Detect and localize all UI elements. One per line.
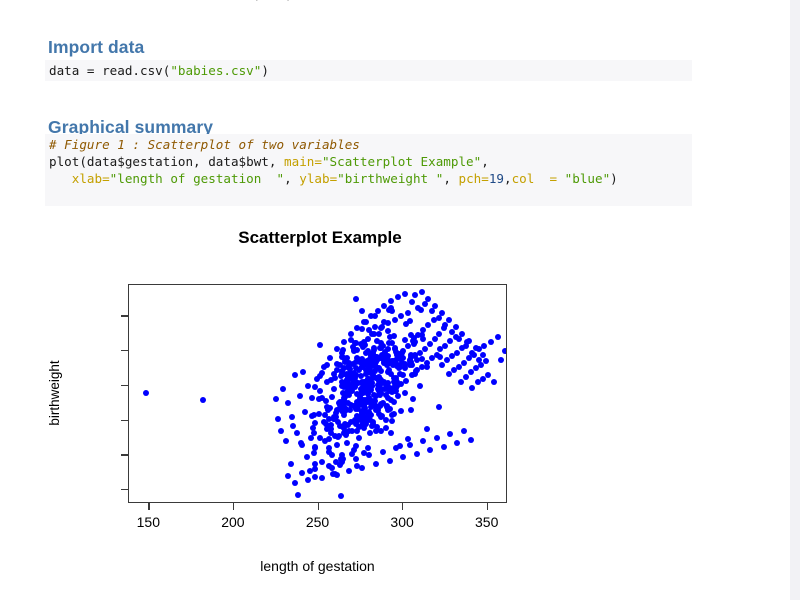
chart-data-point	[347, 407, 353, 413]
chart-x-tick-label: 250	[306, 514, 329, 530]
chart-data-point	[324, 362, 330, 368]
code-token-arg: col =	[512, 171, 565, 186]
code-token-plain: ,	[443, 171, 458, 186]
code-token-str: "Scatterplot Example"	[322, 154, 481, 169]
chart-data-point	[461, 360, 467, 366]
chart-data-point	[335, 434, 341, 440]
chart-data-point	[429, 308, 435, 314]
clipped-top-text: p p	[0, 0, 790, 10]
chart-data-point	[367, 430, 373, 436]
chart-data-point	[376, 331, 382, 337]
r-scatterplot-figure: Scatterplot Example birthweight length o…	[0, 218, 660, 588]
chart-data-point	[391, 399, 397, 405]
chart-data-point	[341, 395, 347, 401]
chart-x-tick-label: 150	[137, 514, 160, 530]
chart-data-point	[366, 452, 372, 458]
chart-data-point	[353, 456, 359, 462]
chart-data-point	[407, 318, 413, 324]
chart-data-point	[439, 310, 445, 316]
chart-data-point	[338, 493, 344, 499]
chart-data-point	[283, 438, 289, 444]
chart-plot-area	[128, 284, 507, 503]
code-token-plain: ,	[284, 171, 299, 186]
chart-data-point	[329, 394, 335, 400]
chart-data-point	[348, 337, 354, 343]
chart-data-point	[380, 449, 386, 455]
chart-data-point	[463, 343, 469, 349]
chart-data-point	[354, 428, 360, 434]
chart-data-point	[319, 370, 325, 376]
chart-data-point	[354, 347, 360, 353]
chart-data-point	[461, 428, 467, 434]
chart-data-point	[392, 346, 398, 352]
chart-data-point	[459, 331, 465, 337]
document-page: p p Import data data = read.csv("babies.…	[0, 0, 790, 600]
chart-data-point	[392, 317, 398, 323]
chart-data-point	[379, 324, 385, 330]
chart-data-point	[485, 372, 491, 378]
code-token-plain: plot(data$gestation, data$bwt,	[49, 154, 284, 169]
chart-data-point	[502, 348, 507, 354]
chart-data-point	[292, 372, 298, 378]
chart-data-point	[436, 315, 442, 321]
chart-data-point	[312, 466, 318, 472]
code-line: data = read.csv("babies.csv")	[49, 62, 686, 79]
chart-data-point	[327, 405, 333, 411]
chart-data-point	[309, 413, 315, 419]
chart-data-point	[311, 430, 317, 436]
chart-data-point	[361, 339, 367, 345]
chart-data-point	[432, 303, 438, 309]
chart-data-point	[454, 440, 460, 446]
chart-data-point	[391, 333, 397, 339]
code-token-str: "birthweight "	[337, 171, 443, 186]
chart-data-point	[366, 388, 372, 394]
chart-data-point	[436, 331, 442, 337]
chart-data-point	[402, 390, 408, 396]
code-token-cmt: # Figure 1 : Scatterplot of two variable…	[49, 137, 360, 152]
chart-x-tick	[318, 503, 319, 510]
chart-data-point	[359, 308, 365, 314]
chart-data-point	[305, 477, 311, 483]
chart-data-point	[361, 381, 367, 387]
chart-data-point	[400, 454, 406, 460]
chart-data-point	[425, 322, 431, 328]
chart-data-point	[333, 414, 339, 420]
chart-data-point	[427, 341, 433, 347]
chart-data-point	[294, 430, 300, 436]
chart-data-point	[312, 474, 318, 480]
chart-x-tick	[148, 503, 149, 510]
chart-data-point	[299, 470, 305, 476]
chart-y-tick	[121, 454, 128, 455]
chart-y-tick	[121, 489, 128, 490]
chart-x-tick	[233, 503, 234, 510]
chart-data-point	[436, 404, 442, 410]
section-heading-import-data: Import data	[48, 37, 144, 58]
chart-data-point	[359, 465, 365, 471]
chart-data-point	[437, 354, 443, 360]
code-token-arg: ylab=	[299, 171, 337, 186]
code-token-str: "babies.csv"	[170, 63, 261, 78]
chart-data-point	[289, 414, 295, 420]
chart-data-point	[323, 421, 329, 427]
chart-data-point	[414, 451, 420, 457]
chart-data-point	[395, 294, 401, 300]
chart-data-point	[327, 355, 333, 361]
chart-data-point	[398, 313, 404, 319]
chart-data-point	[453, 324, 459, 330]
chart-data-point	[346, 468, 352, 474]
chart-data-point	[352, 384, 358, 390]
code-block-import-data: data = read.csv("babies.csv")	[45, 60, 692, 81]
chart-data-point	[340, 424, 346, 430]
chart-data-point	[328, 377, 334, 383]
chart-data-point	[302, 409, 308, 415]
chart-data-point	[427, 447, 433, 453]
chart-data-point	[340, 347, 346, 353]
chart-data-point	[273, 396, 279, 402]
chart-data-point	[405, 310, 411, 316]
chart-data-point	[200, 397, 206, 403]
chart-data-point	[473, 345, 479, 351]
chart-data-point	[422, 301, 428, 307]
chart-data-point	[365, 348, 371, 354]
code-token-plain: data = read.csv(	[49, 63, 170, 78]
chart-data-point	[309, 395, 315, 401]
chart-data-point	[424, 364, 430, 370]
chart-data-point	[356, 435, 362, 441]
chart-data-point	[358, 373, 364, 379]
chart-data-point	[304, 454, 310, 460]
chart-data-point	[463, 374, 469, 380]
code-line: xlab="length of gestation ", ylab="birth…	[49, 170, 686, 187]
code-token-plain: )	[610, 171, 618, 186]
chart-data-point	[319, 459, 325, 465]
chart-data-point	[278, 428, 284, 434]
chart-data-point	[420, 438, 426, 444]
chart-data-point	[355, 403, 361, 409]
chart-data-point	[388, 298, 394, 304]
chart-title: Scatterplot Example	[0, 228, 640, 248]
chart-data-point	[412, 352, 418, 358]
chart-data-point	[409, 299, 415, 305]
code-token-plain: ,	[504, 171, 512, 186]
chart-data-point	[353, 296, 359, 302]
chart-data-point	[331, 386, 337, 392]
chart-data-point	[143, 390, 149, 396]
chart-data-point	[434, 435, 440, 441]
chart-data-point	[334, 361, 340, 367]
chart-data-point	[295, 492, 301, 498]
chart-data-point	[288, 461, 294, 467]
chart-data-point	[373, 461, 379, 467]
code-token-arg: xlab=	[72, 171, 110, 186]
chart-data-point	[413, 368, 419, 374]
chart-data-point	[411, 341, 417, 347]
chart-data-point	[402, 291, 408, 297]
chart-data-point	[397, 443, 403, 449]
chart-data-point	[374, 354, 380, 360]
chart-data-point	[308, 435, 314, 441]
chart-data-point	[378, 401, 384, 407]
chart-data-point	[407, 442, 413, 448]
chart-x-axis-label: length of gestation	[128, 558, 507, 574]
chart-data-point	[353, 421, 359, 427]
chart-data-point	[398, 408, 404, 414]
chart-data-point	[410, 396, 416, 402]
chart-data-point	[480, 352, 486, 358]
code-block-plot-call: # Figure 1 : Scatterplot of two variable…	[45, 134, 692, 206]
chart-data-point	[341, 339, 347, 345]
chart-data-point	[326, 445, 332, 451]
chart-data-point	[344, 440, 350, 446]
chart-y-axis-label: birthweight	[47, 360, 62, 425]
chart-data-point	[389, 418, 395, 424]
chart-data-point	[348, 331, 354, 337]
chart-data-point	[387, 458, 393, 464]
chart-data-point	[394, 363, 400, 369]
chart-data-point	[319, 475, 325, 481]
right-gutter-strip	[790, 0, 800, 600]
chart-data-point	[359, 326, 365, 332]
chart-data-point	[326, 463, 332, 469]
chart-data-point	[378, 428, 384, 434]
chart-data-point	[458, 379, 464, 385]
code-token-plain: )	[261, 63, 269, 78]
chart-x-tick	[402, 503, 403, 510]
chart-x-tick-label: 350	[475, 514, 498, 530]
chart-data-point	[317, 342, 323, 348]
code-token-str: "blue"	[565, 171, 611, 186]
chart-data-point	[481, 343, 487, 349]
chart-data-point	[419, 289, 425, 295]
chart-data-point	[317, 388, 323, 394]
chart-data-point	[446, 317, 452, 323]
code-line: plot(data$gestation, data$bwt, main="Sca…	[49, 153, 686, 170]
code-token-num: 19	[489, 171, 504, 186]
chart-data-point	[372, 313, 378, 319]
chart-data-point	[412, 292, 418, 298]
chart-y-tick	[121, 315, 128, 316]
chart-y-tick	[121, 350, 128, 351]
chart-data-point	[329, 452, 335, 458]
chart-data-point	[454, 350, 460, 356]
code-token-str: "length of gestation "	[110, 171, 284, 186]
chart-data-point	[373, 407, 379, 413]
chart-data-point	[402, 337, 408, 343]
chart-data-point	[469, 385, 475, 391]
chart-data-point	[290, 423, 296, 429]
chart-data-point	[400, 372, 406, 378]
chart-data-point	[275, 416, 281, 422]
chart-data-point	[432, 336, 438, 342]
code-token-arg: pch=	[458, 171, 488, 186]
chart-data-point	[495, 334, 501, 340]
chart-data-point	[312, 420, 318, 426]
chart-data-point	[491, 379, 497, 385]
chart-data-point	[365, 445, 371, 451]
chart-data-point	[456, 336, 462, 342]
chart-data-point	[372, 324, 378, 330]
chart-x-tick-label: 300	[390, 514, 413, 530]
chart-data-point	[300, 369, 306, 375]
chart-data-point	[334, 442, 340, 448]
code-token-arg: main=	[284, 154, 322, 169]
chart-data-point	[424, 426, 430, 432]
chart-data-point	[285, 400, 291, 406]
chart-data-point	[442, 322, 448, 328]
chart-data-point	[382, 349, 388, 355]
chart-data-point	[385, 328, 391, 334]
chart-data-point	[292, 480, 298, 486]
chart-data-point	[442, 343, 448, 349]
chart-y-tick	[121, 385, 128, 386]
chart-data-point	[476, 357, 482, 363]
chart-data-point	[297, 393, 303, 399]
chart-y-tick	[121, 420, 128, 421]
chart-data-point	[388, 430, 394, 436]
chart-data-point	[441, 444, 447, 450]
chart-data-point	[389, 308, 395, 314]
chart-data-point	[439, 362, 445, 368]
chart-data-point	[298, 440, 304, 446]
code-token-plain	[49, 171, 72, 186]
chart-data-point	[280, 386, 286, 392]
chart-data-point	[488, 339, 494, 345]
code-token-plain: ,	[481, 154, 489, 169]
chart-data-point	[285, 473, 291, 479]
chart-data-point	[353, 443, 359, 449]
clipped-text-fragment: p p	[255, 0, 294, 2]
chart-data-point	[403, 378, 409, 384]
chart-data-point	[334, 472, 340, 478]
chart-data-point	[363, 319, 369, 325]
chart-data-point	[422, 346, 428, 352]
chart-data-point	[405, 436, 411, 442]
chart-data-point	[468, 437, 474, 443]
chart-data-point	[369, 423, 375, 429]
chart-data-point	[417, 383, 423, 389]
chart-data-point	[447, 431, 453, 437]
chart-x-tick-label: 200	[221, 514, 244, 530]
chart-data-point	[418, 307, 424, 313]
chart-data-point	[397, 356, 403, 362]
code-line: # Figure 1 : Scatterplot of two variable…	[49, 136, 686, 153]
chart-data-point	[371, 345, 377, 351]
chart-data-point	[337, 462, 343, 468]
chart-data-point	[395, 393, 401, 399]
chart-data-point	[483, 358, 489, 364]
chart-data-point	[311, 450, 317, 456]
chart-data-point	[362, 408, 368, 414]
chart-x-tick	[487, 503, 488, 510]
chart-data-point	[498, 357, 504, 363]
chart-data-point	[305, 383, 311, 389]
chart-data-point	[408, 407, 414, 413]
chart-data-point	[466, 338, 472, 344]
chart-data-point	[425, 296, 431, 302]
chart-data-point	[326, 436, 332, 442]
